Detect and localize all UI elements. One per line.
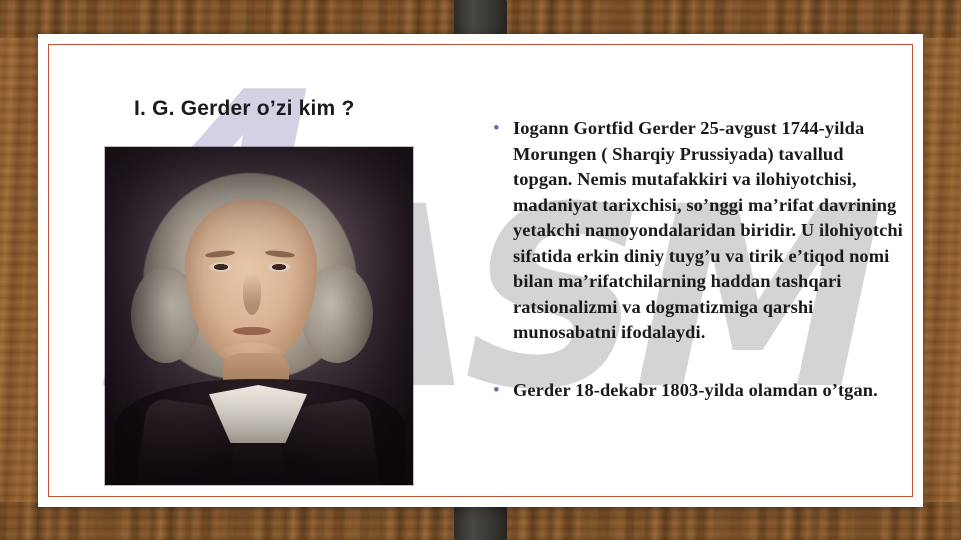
bullet-text-2: Gerder 18-dekabr 1803-yilda olamdan o’tg… bbox=[513, 378, 903, 404]
portrait-image bbox=[105, 147, 413, 485]
bullet-icon: • bbox=[493, 378, 513, 404]
slide-canvas: 4 RASM I. G. Gerder o’zi kim ? bbox=[0, 0, 961, 540]
bullet-icon: • bbox=[493, 116, 513, 142]
portrait-canvas bbox=[105, 147, 413, 485]
list-item: • Gerder 18-dekabr 1803-yilda olamdan o’… bbox=[493, 378, 903, 404]
page-title: I. G. Gerder o’zi kim ? bbox=[134, 97, 355, 121]
list-item: • Iogann Gortfid Gerder 25-avgust 1744-y… bbox=[493, 116, 903, 346]
slide-card: 4 RASM I. G. Gerder o’zi kim ? bbox=[38, 34, 923, 507]
body-text-block: • Iogann Gortfid Gerder 25-avgust 1744-y… bbox=[493, 116, 903, 403]
bullet-text-1: Iogann Gortfid Gerder 25-avgust 1744-yil… bbox=[513, 116, 903, 346]
portrait-vignette bbox=[105, 147, 413, 485]
